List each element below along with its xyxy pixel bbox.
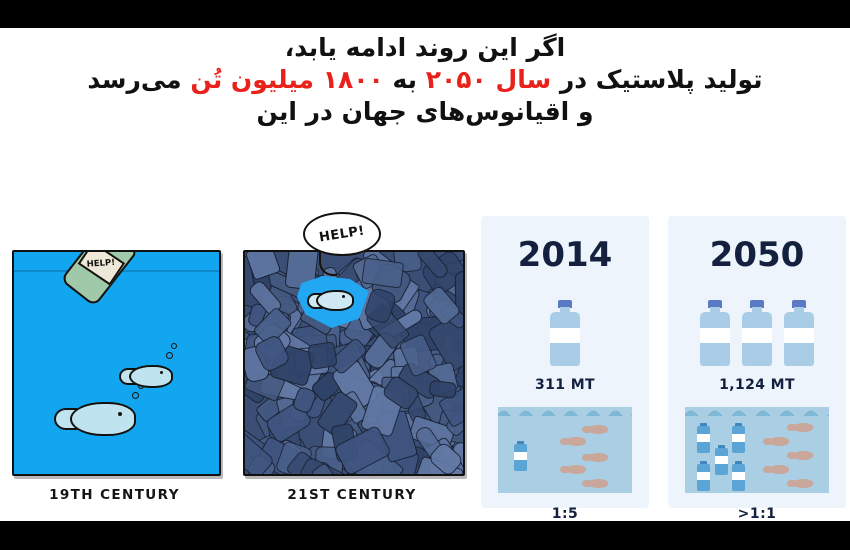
tank-fish-icon: [763, 465, 791, 475]
headline-block: اگر این روند ادامه یابد، تولید پلاستیک د…: [0, 32, 850, 128]
bottle-icon-row-2050: [668, 292, 846, 366]
ocean-tank-2050: [685, 407, 829, 493]
cartoon-caption-19th: 19TH CENTURY: [12, 487, 217, 503]
speech-bubble-text: HELP!: [318, 223, 366, 245]
fish-body: [793, 479, 813, 488]
bubble-icon: [166, 352, 173, 359]
fish-body: [129, 365, 173, 388]
fish-body: [70, 402, 136, 436]
wave-icon: [685, 407, 829, 416]
tank-fish-icon: [787, 479, 815, 489]
bubble-icon: [171, 343, 177, 349]
fish-body: [769, 437, 789, 446]
panel-year-2050: 2050: [668, 235, 846, 275]
headline-line-2-part-b: به: [384, 65, 426, 94]
infographic-screenshot: اگر این روند ادامه یابد، تولید پلاستیک د…: [0, 0, 850, 550]
plastic-bottle-icon: [550, 300, 580, 366]
speech-bubble: HELP!: [303, 212, 381, 256]
tank-fish-icon: [582, 425, 610, 435]
headline-highlight-year: سال ۲۰۵۰: [426, 65, 551, 94]
bottle-label: [697, 434, 710, 442]
fish-body: [588, 425, 608, 434]
bottle-label: [697, 472, 710, 480]
fish-icon-small: [119, 365, 171, 387]
fish-body: [566, 437, 586, 446]
bottle-label: [784, 328, 814, 343]
cartoon-caption-21st: 21ST CENTURY: [243, 487, 461, 503]
headline-line-3: و اقیانوس‌های جهان در این: [0, 96, 850, 128]
tank-fish-icon: [560, 465, 588, 475]
headline-line-2: تولید پلاستیک در سال ۲۰۵۰ به ۱۸۰۰ میلیون…: [0, 64, 850, 96]
fish-body: [316, 290, 354, 311]
bottle-label: [732, 472, 745, 480]
speech-bubble-oval: HELP!: [303, 212, 381, 256]
bottle-label: [550, 328, 580, 343]
bottle-label: [514, 452, 527, 460]
bottle-label: [700, 328, 730, 343]
fish-body: [793, 423, 813, 432]
tank-fish-icon: [787, 451, 815, 461]
fish-icon-trapped: [307, 290, 351, 310]
fish-eye: [342, 295, 345, 298]
letterbox-bar-top: [0, 0, 850, 28]
headline-line-2-part-a: تولید پلاستیک در: [551, 65, 762, 94]
wave-icon: [498, 407, 632, 416]
fish-body: [588, 453, 608, 462]
fish-eye: [118, 412, 122, 416]
tank-fish-icon: [560, 437, 588, 447]
headline-line-1: اگر این روند ادامه یابد،: [0, 32, 850, 64]
headline-line-2-part-c: می‌رسد: [87, 65, 190, 94]
bottle-icon-row-2014: [481, 292, 649, 366]
bottle-label: [732, 434, 745, 442]
letterbox-bar-bottom: [0, 521, 850, 550]
plastic-bottle-icon: [307, 341, 338, 370]
fish-body: [793, 451, 813, 460]
bottle-label: [742, 328, 772, 343]
sea-illustration-polluted: [243, 250, 465, 476]
ocean-tank-2014: [498, 407, 632, 493]
cartoon-19th-century: HELP! 19TH CENTURY: [12, 250, 217, 503]
production-value-2014: 311 MT: [481, 377, 649, 393]
headline-highlight-amount: ۱۸۰۰ میلیون تُن: [190, 65, 383, 94]
stat-panel-2050: 2050: [668, 216, 846, 508]
sea-illustration-clean: HELP!: [12, 250, 221, 476]
ratio-value-2050: >1:1: [668, 506, 846, 521]
tank-fish-icon: [763, 437, 791, 447]
plastic-bottle-icon: [700, 300, 730, 366]
fish-icon-large: [54, 402, 134, 436]
tank-fish-icon: [582, 479, 610, 489]
stat-panel-2014: 2014 311 MT: [481, 216, 649, 508]
plastic-bottle-icon: [362, 258, 405, 289]
bubble-icon: [132, 392, 139, 399]
panel-year-2014: 2014: [481, 235, 649, 275]
fish-body: [588, 479, 608, 488]
content-canvas: اگر این روند ادامه یابد، تولید پلاستیک د…: [0, 28, 850, 521]
fish-body: [769, 465, 789, 474]
ratio-value-2014: 1:5: [481, 506, 649, 521]
plastic-bottle-icon: [784, 300, 814, 366]
plastic-bottle-icon: [742, 300, 772, 366]
message-in-a-bottle-icon: HELP!: [54, 250, 153, 311]
production-value-2050: 1,124 MT: [668, 377, 846, 393]
cartoon-21st-century: HELP! 21ST CENTURY: [243, 250, 461, 503]
bottle-note-text: HELP!: [87, 257, 116, 269]
fish-body: [566, 465, 586, 474]
tank-fish-icon: [582, 453, 610, 463]
fish-eye: [160, 371, 163, 374]
tank-fish-icon: [787, 423, 815, 433]
bottle-label: [715, 456, 728, 464]
